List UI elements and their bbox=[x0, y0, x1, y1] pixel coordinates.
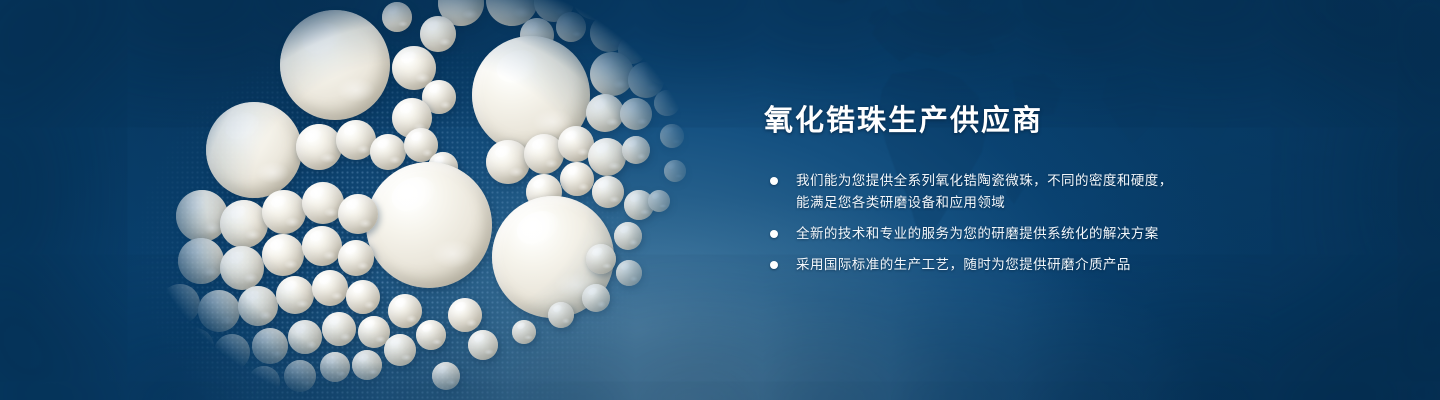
banner-copy: 氧化锆珠生产供应商 我们能为您提供全系列氧化锆陶瓷微珠，不同的密度和硬度， 能满… bbox=[764, 104, 1284, 276]
zirconia-beads-photo bbox=[120, 0, 740, 400]
white-dot-bullet-icon bbox=[770, 177, 778, 185]
feature-text-line: 采用国际标准的生产工艺，随时为您提供研磨介质产品 bbox=[796, 254, 1284, 276]
feature-text-line: 能满足您各类研磨设备和应用领域 bbox=[796, 192, 1284, 214]
hero-banner: 氧化锆珠生产供应商 我们能为您提供全系列氧化锆陶瓷微珠，不同的密度和硬度， 能满… bbox=[0, 0, 1440, 400]
feature-text-line: 我们能为您提供全系列氧化锆陶瓷微珠，不同的密度和硬度， bbox=[796, 170, 1284, 192]
feature-list-item: 我们能为您提供全系列氧化锆陶瓷微珠，不同的密度和硬度， 能满足您各类研磨设备和应… bbox=[770, 170, 1284, 214]
feature-list-item: 全新的技术和专业的服务为您的研磨提供系统化的解决方案 bbox=[770, 223, 1284, 245]
white-dot-bullet-icon bbox=[770, 230, 778, 238]
banner-feature-list: 我们能为您提供全系列氧化锆陶瓷微珠，不同的密度和硬度， 能满足您各类研磨设备和应… bbox=[770, 170, 1284, 276]
feature-text-line: 全新的技术和专业的服务为您的研磨提供系统化的解决方案 bbox=[796, 223, 1284, 245]
banner-headline: 氧化锆珠生产供应商 bbox=[764, 104, 1284, 139]
feature-list-item: 采用国际标准的生产工艺，随时为您提供研磨介质产品 bbox=[770, 254, 1284, 276]
white-dot-bullet-icon bbox=[770, 261, 778, 269]
